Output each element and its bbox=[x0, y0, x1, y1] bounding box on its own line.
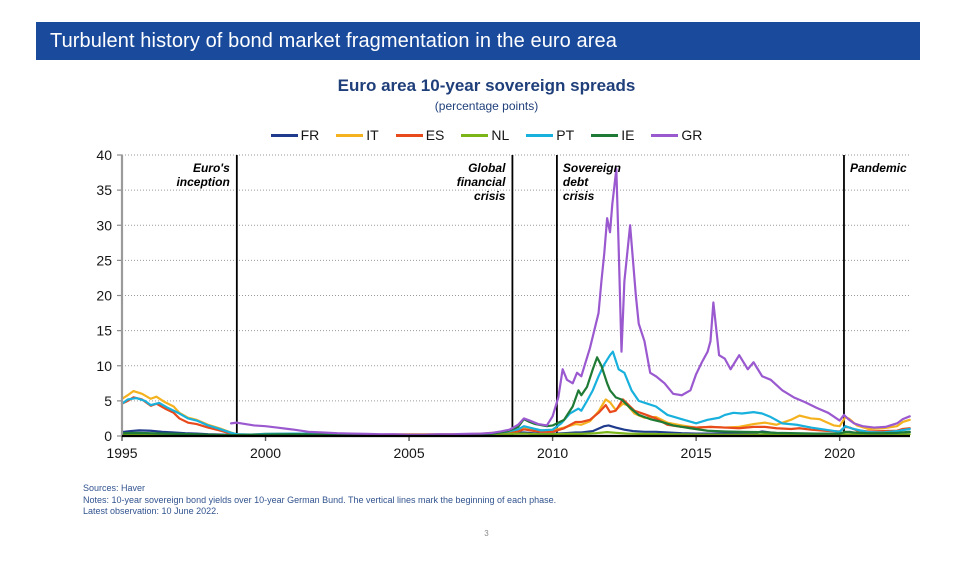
chart-footnotes: Sources: Haver Notes: 10-year sovereign … bbox=[83, 483, 883, 518]
x-axis-label-2020: 2020 bbox=[824, 445, 855, 461]
phase-label-global-financial-crisis: Global bbox=[468, 161, 506, 175]
y-axis-label-35: 35 bbox=[96, 182, 112, 198]
phase-label-euro-s-inception: inception bbox=[176, 175, 229, 189]
y-axis-label-20: 20 bbox=[96, 288, 112, 304]
phase-label-sovereign-debt-crisis: debt bbox=[563, 175, 589, 189]
footnote-latest-observation: Latest observation: 10 June 2022. bbox=[83, 506, 883, 518]
phase-label-sovereign-debt-crisis: Sovereign bbox=[563, 161, 621, 175]
y-axis-label-40: 40 bbox=[96, 147, 112, 163]
phase-label-global-financial-crisis: crisis bbox=[474, 189, 506, 203]
y-axis-label-5: 5 bbox=[104, 393, 112, 409]
x-axis-label-2000: 2000 bbox=[250, 445, 281, 461]
phase-label-global-financial-crisis: financial bbox=[457, 175, 506, 189]
page-number: 3 bbox=[0, 529, 973, 538]
y-axis-label-15: 15 bbox=[96, 323, 112, 339]
chart-svg: 0510152025303540199520002005201020152020… bbox=[0, 0, 973, 470]
phase-label-sovereign-debt-crisis: crisis bbox=[563, 189, 595, 203]
y-axis-label-25: 25 bbox=[96, 252, 112, 268]
phase-label-pandemic: Pandemic bbox=[850, 161, 907, 175]
footnote-sources: Sources: Haver bbox=[83, 483, 883, 495]
y-axis-label-0: 0 bbox=[104, 428, 112, 444]
y-axis-label-30: 30 bbox=[96, 217, 112, 233]
y-axis-label-10: 10 bbox=[96, 358, 112, 374]
x-axis-label-2010: 2010 bbox=[537, 445, 568, 461]
x-axis-label-2015: 2015 bbox=[681, 445, 712, 461]
footnote-notes: Notes: 10-year sovereign bond yields ove… bbox=[83, 495, 883, 507]
phase-label-euro-s-inception: Euro's bbox=[193, 161, 230, 175]
x-axis-label-2005: 2005 bbox=[393, 445, 424, 461]
series-line-gr bbox=[231, 169, 910, 435]
x-axis-label-1995: 1995 bbox=[106, 445, 137, 461]
